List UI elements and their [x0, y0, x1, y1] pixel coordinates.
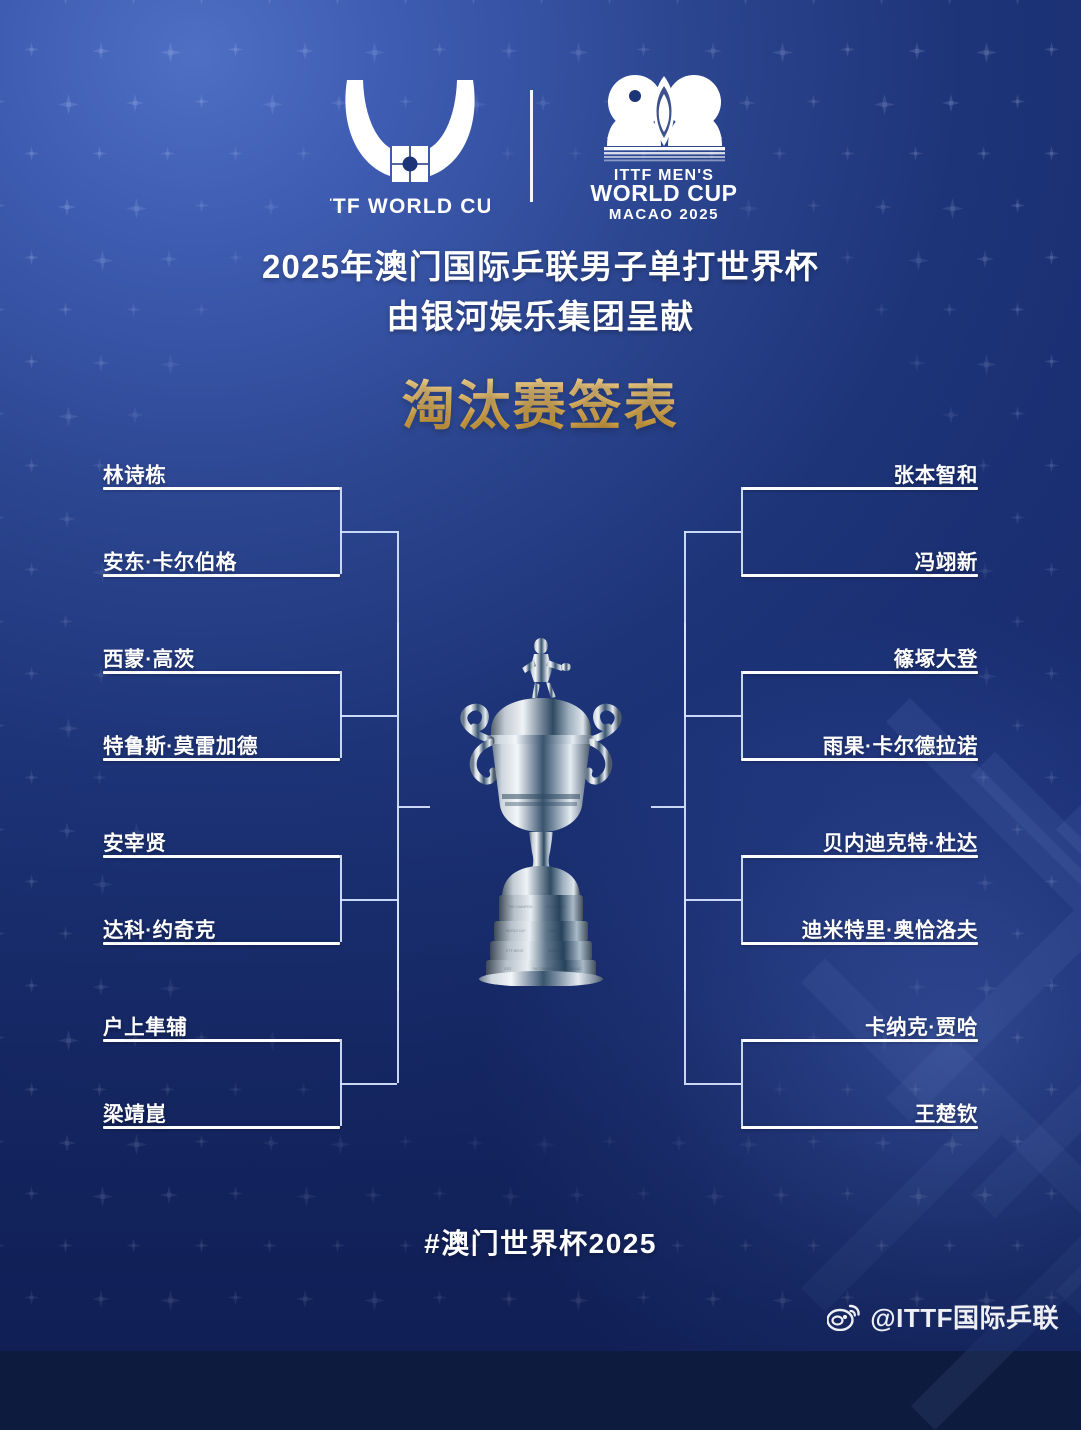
bracket-connector — [741, 855, 743, 942]
svg-text:MACAO: MACAO — [570, 967, 582, 971]
bracket-connector — [741, 1039, 743, 1126]
bracket-player-name: 安东·卡尔伯格 — [103, 545, 237, 575]
bracket-player-name: 张本智和 — [894, 458, 978, 488]
bracket-connector — [340, 715, 397, 717]
bracket-player-name: 特鲁斯·莫雷加德 — [103, 729, 258, 759]
svg-text:ITTF MEN'S: ITTF MEN'S — [506, 949, 523, 953]
svg-text:THE CHAMPION: THE CHAMPION — [532, 967, 557, 971]
bracket-connector — [340, 899, 397, 901]
weibo-watermark: @ITTF国际乒联 — [827, 1298, 1059, 1335]
bracket-connector — [651, 806, 684, 808]
svg-text:WORLD CUP: WORLD CUP — [548, 949, 567, 953]
hashtag: #澳门世界杯2025 — [0, 1222, 1081, 1262]
bracket-player-name: 安宰贤 — [103, 826, 166, 856]
svg-text:THE CHAMPION: THE CHAMPION — [508, 905, 533, 909]
bracket-player-name: 冯翊新 — [915, 545, 978, 575]
bracket-player-name: 篠塚大登 — [894, 642, 978, 672]
bracket-player-name: 户上隼辅 — [103, 1010, 187, 1040]
bracket-connector — [741, 487, 743, 574]
bracket-connector — [340, 531, 397, 533]
svg-text:2023: 2023 — [504, 967, 511, 971]
bracket-connector — [684, 531, 741, 533]
bracket-player-name: 达科·约奇克 — [103, 913, 216, 943]
bracket-player-name: 梁靖崑 — [103, 1097, 166, 1127]
svg-text:2024 MACAO: 2024 MACAO — [546, 905, 566, 909]
bracket-player-name: 贝内迪克特·杜达 — [823, 826, 978, 856]
bracket-connector — [684, 899, 741, 901]
bracket-connector — [741, 671, 743, 758]
bracket-player-name: 王楚钦 — [915, 1097, 978, 1127]
bracket-player-name: 雨果·卡尔德拉诺 — [823, 729, 978, 759]
bracket-connector — [684, 623, 686, 991]
trophy-image: THE CHAMPION2024 MACAO WORLD CUPCHINA PR… — [436, 636, 646, 986]
bracket-connector — [397, 806, 430, 808]
bracket-player-name: 林诗栋 — [103, 458, 166, 488]
svg-text:CHINA PR: CHINA PR — [548, 929, 564, 933]
weibo-handle: @ITTF国际乒联 — [870, 1298, 1059, 1335]
svg-text:WORLD CUP: WORLD CUP — [506, 929, 525, 933]
bracket-player-name: 迪米特里·奥恰洛夫 — [802, 913, 978, 943]
bracket-player-name: 卡纳克·贾哈 — [865, 1010, 978, 1040]
bracket-connector — [684, 1083, 741, 1085]
bracket-connector — [340, 1083, 397, 1085]
weibo-icon — [827, 1303, 861, 1331]
bracket-connector — [684, 715, 741, 717]
bracket-player-name: 西蒙·高茨 — [103, 642, 195, 672]
